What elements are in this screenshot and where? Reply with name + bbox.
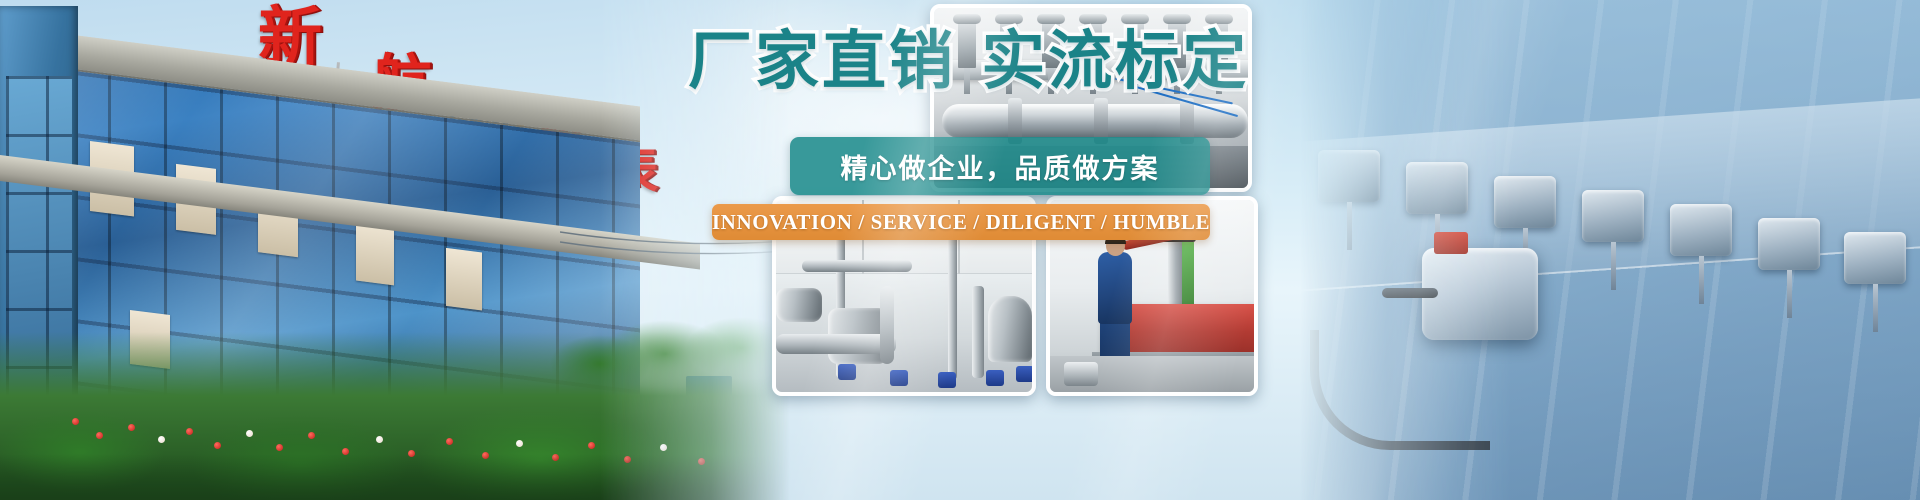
flow-instrument-icon — [1670, 204, 1732, 256]
office-building-photo: 新 航 BSD 新航仪表 仪 表 — [0, 0, 790, 500]
actuated-valve — [986, 370, 1004, 386]
actuated-valve — [838, 364, 856, 380]
window-frame — [356, 221, 394, 286]
flower — [276, 444, 283, 451]
support-column — [948, 230, 957, 380]
flower — [516, 440, 523, 447]
process-pipe — [776, 334, 896, 354]
process-pipe — [880, 286, 894, 364]
worker-torso — [1098, 252, 1132, 324]
flow-instrument-icon — [1318, 150, 1380, 202]
banner-tagline: INNOVATION / SERVICE / DILIGENT / HUMBLE — [712, 210, 1210, 235]
cnc-tool-column — [1182, 242, 1194, 312]
garden-path — [0, 454, 790, 500]
flow-instrument-icon — [1758, 218, 1820, 270]
distillation-column — [972, 286, 984, 378]
actuated-valve — [890, 370, 908, 386]
actuated-valve — [1016, 366, 1034, 382]
instrument-hall-background — [1300, 0, 1920, 500]
promo-banner: 新 航 BSD 新航仪表 仪 表 — [0, 0, 1920, 500]
flower — [446, 438, 453, 445]
flower — [158, 436, 165, 443]
flower — [376, 436, 383, 443]
flow-instrument-icon — [1844, 232, 1906, 284]
flower — [72, 418, 79, 425]
flow-instrument-icon — [1494, 176, 1556, 228]
banner-subtitle-box: 精心做企业，品质做方案 — [790, 137, 1210, 195]
flower — [588, 442, 595, 449]
process-pipe — [802, 260, 912, 272]
flow-instrument-icon — [1582, 190, 1644, 242]
instrument-cable — [1310, 330, 1490, 450]
separator-tank — [988, 296, 1032, 362]
actuated-valve — [938, 372, 956, 388]
flower — [128, 424, 135, 431]
featured-transmitter — [1422, 248, 1538, 340]
flow-instrument-icon — [1406, 162, 1468, 214]
machined-part — [1064, 362, 1098, 386]
flower — [246, 430, 253, 437]
garden-lawn — [0, 332, 790, 500]
flower — [214, 442, 221, 449]
flower — [186, 428, 193, 435]
flower — [308, 432, 315, 439]
flower — [96, 432, 103, 439]
banner-tagline-box: INNOVATION / SERVICE / DILIGENT / HUMBLE — [712, 204, 1210, 240]
flower — [660, 444, 667, 451]
banner-headline: 厂家直销 实流标定 — [688, 28, 1249, 97]
pressure-vessel — [776, 288, 822, 322]
banner-subtitle: 精心做企业，品质做方案 — [841, 147, 1160, 186]
